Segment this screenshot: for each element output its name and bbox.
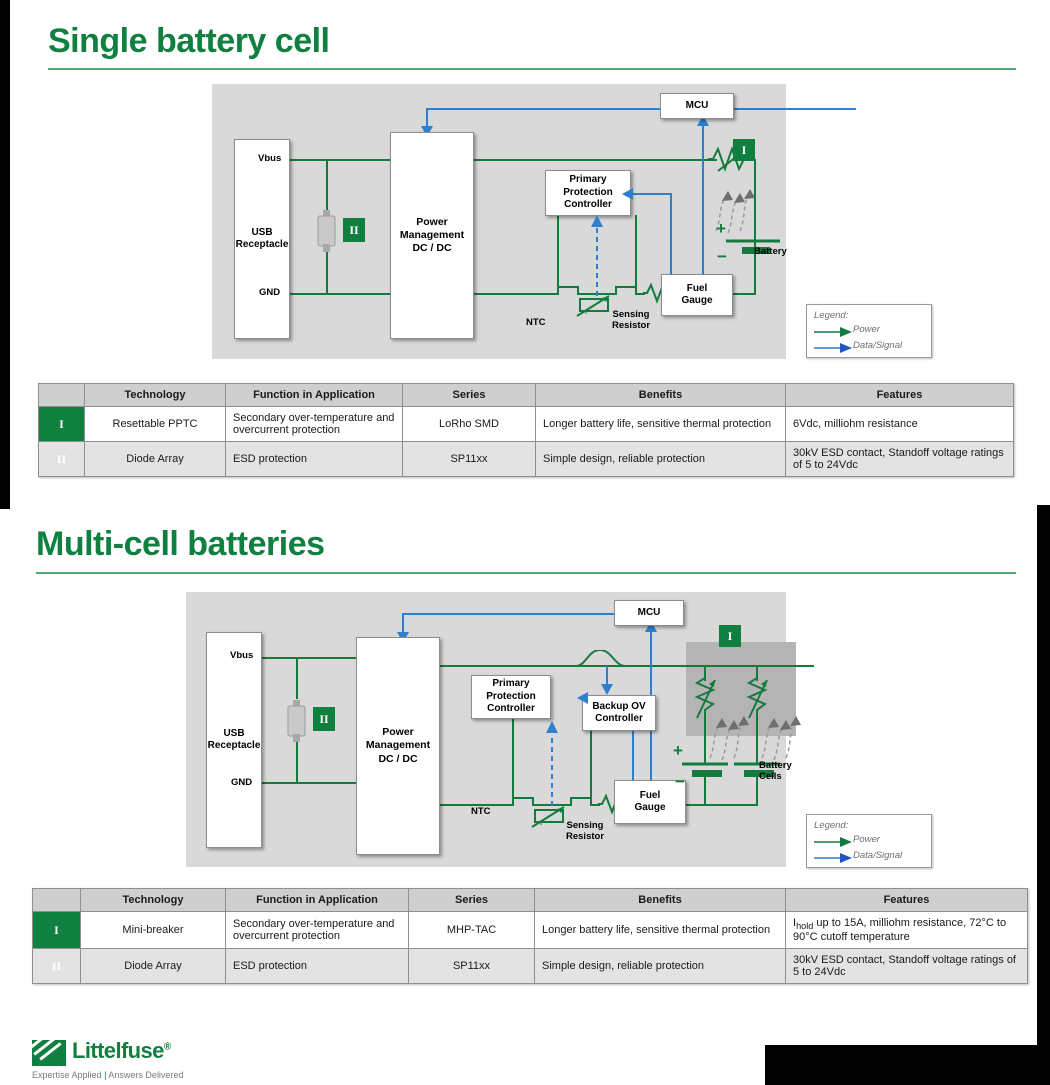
node-power-management-2[interactable]: Power Management DC / DC: [356, 637, 440, 855]
battery-minus-label: −: [717, 247, 727, 267]
legend-title: Legend:: [814, 310, 848, 321]
label-battery: Battery: [754, 246, 787, 257]
chip-marker-one: I: [733, 139, 755, 161]
arrowhead-down-backup-ov-icon: [600, 682, 614, 696]
th-features: Features: [786, 889, 1028, 912]
littelfuse-logo-mark-icon: [32, 1040, 66, 1066]
table-header-row: Technology Function in Application Serie…: [39, 384, 1014, 407]
chip-marker-one-2: I: [719, 625, 741, 647]
page-edge-bar-bottom: [765, 1045, 1037, 1085]
cell-index: II: [33, 949, 81, 984]
node-fuel-gauge[interactable]: Fuel Gauge: [661, 274, 733, 316]
battery-plus-label: +: [716, 219, 726, 239]
cell-features: 6Vdc, milliohm resistance: [786, 407, 1014, 442]
cell-benefits: Simple design, reliable protection: [536, 442, 786, 477]
wire-vbus-usb-to-pmic: [290, 159, 390, 161]
th-benefits: Benefits: [535, 889, 786, 912]
wire-ppc-leg-right: [635, 215, 637, 287]
diagram-multi-cell-batteries: -t°: [186, 592, 786, 867]
node-fuel-gauge-label-2: Fuel Gauge: [634, 790, 665, 815]
table-row: II Diode Array ESD protection SP11xx Sim…: [39, 442, 1014, 477]
node-power-management-label: Power Management DC / DC: [400, 216, 464, 255]
spec-table-single-cell: Technology Function in Application Serie…: [38, 383, 1014, 477]
diode-array-symbol-2: [286, 698, 308, 744]
legend-data-line-icon-2: [814, 853, 852, 863]
legend-power-line-icon-2: [814, 837, 852, 847]
cell-benefits: Simple design, reliable protection: [535, 949, 786, 984]
cell-features: Ihold up to 15A, milliohm resistance, 72…: [786, 912, 1028, 949]
wire-ppc-leg-left: [557, 215, 559, 287]
node-primary-protection-controller-2[interactable]: Primary Protection Controller: [471, 675, 551, 719]
battery-cell1-symbol: [678, 758, 734, 782]
chip-marker-two-2: II: [313, 707, 335, 731]
label-ntc: NTC: [526, 317, 546, 328]
legend-title-2: Legend:: [814, 820, 848, 831]
node-power-management[interactable]: Power Management DC / DC: [390, 132, 474, 339]
node-ppc-label: Primary Protection Controller: [563, 174, 612, 212]
th-technology: Technology: [85, 384, 226, 407]
bus-hump-symbol: [576, 650, 628, 680]
node-usb-receptacle-2[interactable]: USB Receptacle: [206, 632, 262, 848]
legend-data-label-2: Data/Signal: [853, 850, 902, 861]
spec-table-multi-cell: Technology Function in Application Serie…: [32, 888, 1028, 984]
wire-tvs-to-gnd: [326, 249, 328, 295]
wire-vbus-tap-down: [326, 159, 328, 212]
wire-ntc-sense-dashed: [590, 214, 604, 298]
section-title-multi-cell-batteries: Multi-cell batteries: [36, 525, 325, 564]
cell-index: I: [33, 912, 81, 949]
node-usb-receptacle-label-2: USB Receptacle: [208, 728, 261, 753]
tagline-left: Expertise Applied: [32, 1070, 102, 1080]
label-sensing-resistor: Sensing Resistor: [612, 309, 650, 332]
arrowhead-left-ppc-icon: [621, 187, 635, 201]
chip-marker-two: II: [343, 218, 365, 242]
label-vbus-2: Vbus: [230, 650, 253, 661]
tagline-right: Answers Delivered: [108, 1070, 183, 1080]
cell-features: 30kV ESD contact, Standoff voltage ratin…: [786, 949, 1028, 984]
legend-power-label: Power: [853, 324, 880, 335]
cell-benefits: Longer battery life, sensitive thermal p…: [535, 912, 786, 949]
cell-technology: Mini-breaker: [81, 912, 226, 949]
node-mcu[interactable]: MCU: [660, 93, 734, 119]
legend-power-line-icon: [814, 327, 852, 337]
wire-mcu-to-pmic-horizontal: [426, 108, 856, 110]
table-row: I Mini-breaker Secondary over-temperatur…: [33, 912, 1028, 949]
wire-to-ppc-horizontal: [630, 193, 672, 195]
cell-series: SP11xx: [409, 949, 535, 984]
wire-vbus-tap-down-2: [296, 657, 298, 699]
tagline-separator: |: [104, 1070, 106, 1080]
legend-box-2: Legend: Power Data/Signal: [806, 814, 932, 868]
littelfuse-tagline: Expertise Applied | Answers Delivered: [32, 1070, 183, 1080]
table-row: I Resettable PPTC Secondary over-tempera…: [39, 407, 1014, 442]
features-ihold-rest: up to 15A, milliohm resistance, 72°C to …: [793, 917, 1006, 943]
th-function: Function in Application: [226, 384, 403, 407]
label-gnd-2: GND: [231, 777, 252, 788]
wire-ntc-pad-right-top: [615, 286, 637, 288]
th-technology: Technology: [81, 889, 226, 912]
wire-pmic-gnd-out: [474, 293, 557, 295]
legend-box-1: Legend: Power Data/Signal: [806, 304, 932, 358]
section-title-single-battery-cell: Single battery cell: [48, 22, 330, 61]
table-row: II Diode Array ESD protection SP11xx Sim…: [33, 949, 1028, 984]
node-mcu-2[interactable]: MCU: [614, 600, 684, 626]
cell-index: I: [39, 407, 85, 442]
wire-tvs-to-gnd-2: [296, 740, 298, 784]
wire-ntc-pad-right-top-2: [570, 797, 592, 799]
node-backup-ov-controller[interactable]: Backup OV Controller: [582, 695, 656, 731]
cell-technology: Diode Array: [81, 949, 226, 984]
registered-mark: ®: [164, 1042, 171, 1053]
wire-gnd-usb-to-pmic: [290, 293, 390, 295]
legend-power-label-2: Power: [853, 834, 880, 845]
node-ppc-label-2: Primary Protection Controller: [486, 678, 535, 716]
cell-features: 30kV ESD contact, Standoff voltage ratin…: [786, 442, 1014, 477]
wire-vbus-usb-to-pmic-2: [262, 657, 356, 659]
wire-ntc-sense-dashed-2: [545, 720, 559, 808]
page-edge-bar-right: [1037, 505, 1050, 1085]
th-series: Series: [403, 384, 536, 407]
node-power-management-label-2: Power Management DC / DC: [366, 726, 430, 765]
label-gnd: GND: [259, 287, 280, 298]
node-mcu-label-2: MCU: [638, 607, 661, 620]
pptc-cell1-symbol: [691, 674, 725, 724]
node-backup-ov-label: Backup OV Controller: [592, 701, 645, 726]
diode-array-symbol: [316, 208, 338, 254]
page-edge-bar-left: [0, 0, 10, 509]
th-benefits: Benefits: [536, 384, 786, 407]
cell-series: MHP-TAC: [409, 912, 535, 949]
node-mcu-label: MCU: [686, 100, 709, 113]
features-ihold-subscript: hold: [796, 921, 813, 931]
wire-ntc-pad-left-top: [557, 286, 579, 288]
pack-plus-label: +: [673, 741, 683, 761]
legend-data-label: Data/Signal: [853, 340, 902, 351]
node-fuel-gauge-label: Fuel Gauge: [681, 283, 712, 308]
diagram-single-battery-cell: -t° + −: [212, 84, 786, 359]
littelfuse-wordmark: Littelfuse®: [72, 1038, 171, 1064]
th-function: Function in Application: [226, 889, 409, 912]
cell-technology: Resettable PPTC: [85, 407, 226, 442]
pptc-cell2-symbol: [743, 674, 777, 724]
section-rule-1: [48, 68, 1016, 70]
cell-technology: Diode Array: [85, 442, 226, 477]
ntc-coefficient-label-2: -t°: [538, 821, 544, 828]
node-usb-receptacle-label: USB Receptacle: [236, 227, 289, 252]
cell-index: II: [39, 442, 85, 477]
label-ntc-2: NTC: [471, 806, 491, 817]
node-usb-receptacle[interactable]: USB Receptacle: [234, 139, 290, 339]
cell-function: Secondary over-temperature and overcurre…: [226, 912, 409, 949]
th-series: Series: [409, 889, 535, 912]
brand-name: Littelfuse: [72, 1038, 164, 1063]
th-features: Features: [786, 384, 1014, 407]
label-battery-cells: Battery Cells: [759, 760, 792, 783]
th-index: [39, 384, 85, 407]
section-rule-2: [36, 572, 1016, 574]
cell-function: ESD protection: [226, 949, 409, 984]
label-vbus: Vbus: [258, 153, 281, 164]
wire-pmic-vout: [474, 159, 717, 161]
legend-data-line-icon: [814, 343, 852, 353]
cell-benefits: Longer battery life, sensitive thermal p…: [536, 407, 786, 442]
pack-minus-label: −: [675, 772, 685, 792]
wire-ppc-leg-left-2: [512, 719, 514, 798]
th-index: [33, 889, 81, 912]
wire-gnd-usb-to-pmic-2: [262, 782, 356, 784]
cell-series: SP11xx: [403, 442, 536, 477]
ntc-coefficient-label: -t°: [583, 310, 589, 317]
arrowhead-left-ppc-icon-2: [576, 691, 590, 705]
label-sensing-resistor-2: Sensing Resistor: [566, 820, 604, 843]
wire-ntc-pad-left-top-2: [512, 797, 534, 799]
node-primary-protection-controller[interactable]: Primary Protection Controller: [545, 170, 631, 216]
cell-function: Secondary over-temperature and overcurre…: [226, 407, 403, 442]
table-header-row: Technology Function in Application Serie…: [33, 889, 1028, 912]
cell-function: ESD protection: [226, 442, 403, 477]
cell-series: LoRho SMD: [403, 407, 536, 442]
